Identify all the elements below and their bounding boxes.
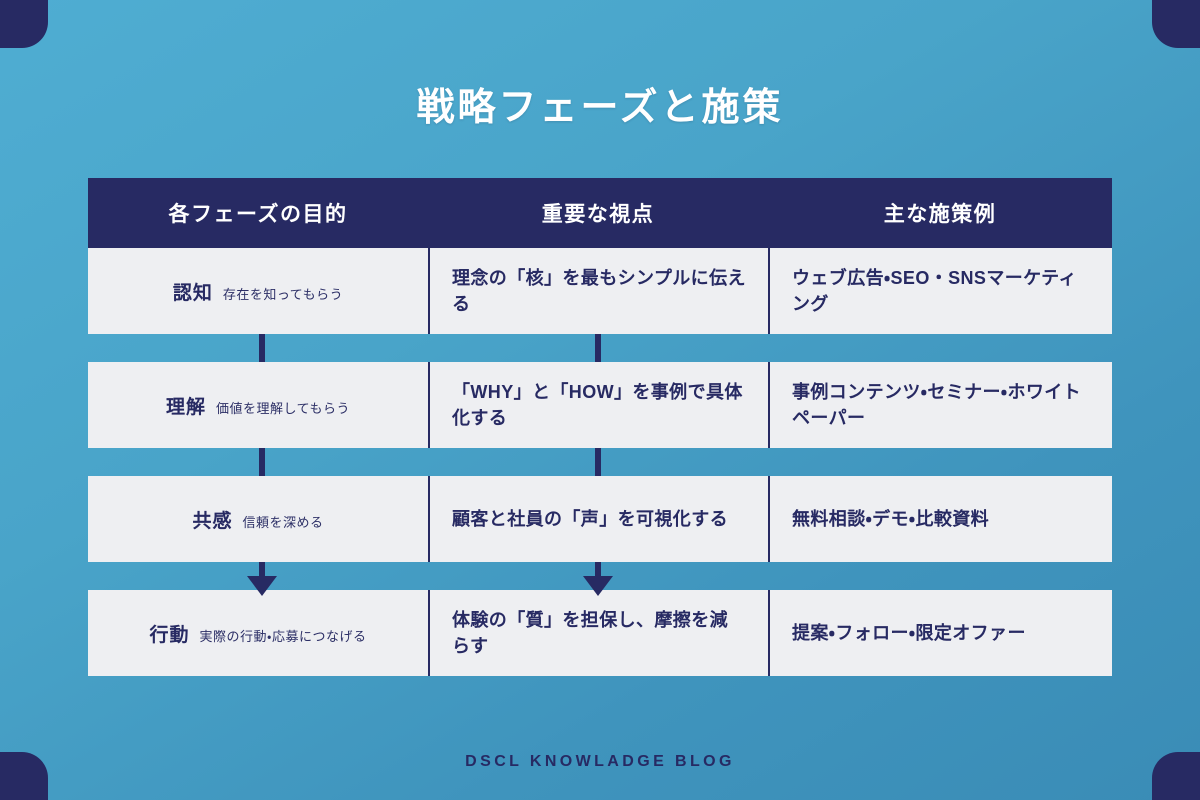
- tactics-text: 無料相談・デモ・比較資料: [792, 506, 989, 532]
- phase-label-group: 共感 信頼を深める: [192, 506, 323, 533]
- phase-subtitle: 存在を知ってもらう: [223, 284, 343, 303]
- tactics-cell: 事例コンテンツ・セミナー・ホワイトペーパー: [768, 362, 1112, 448]
- viewpoint-text: 理念の「核」を最もシンプルに伝える: [452, 265, 746, 317]
- phase-subtitle: 価値を理解してもらう: [216, 398, 350, 417]
- corner-bracket-top-right: [1152, 0, 1200, 48]
- tactics-cell: 無料相談・デモ・比較資料: [768, 476, 1112, 562]
- viewpoint-text: 顧客と社員の「声」を可視化する: [452, 506, 728, 532]
- corner-bracket-top-left: [0, 0, 48, 48]
- table-row: 共感 信頼を深める 顧客と社員の「声」を可視化する 無料相談・デモ・比較資料: [88, 476, 1112, 562]
- viewpoint-cell: 「WHY」と「HOW」を事例で具体化する: [428, 362, 768, 448]
- phase-cell: 行動 実際の行動・応募につなげる: [88, 590, 428, 676]
- phase-label-group: 理解 価値を理解してもらう: [166, 392, 350, 419]
- phase-name: 共感: [192, 506, 232, 533]
- phase-cell: 共感 信頼を深める: [88, 476, 428, 562]
- tactics-text: 提案・フォロー・限定オファー: [792, 620, 1026, 646]
- phase-label-group: 行動 実際の行動・応募につなげる: [150, 620, 367, 647]
- strategy-phase-table: 各フェーズの目的 重要な視点 主な施策例 認知 存在を知ってもらう 理念の「核」…: [88, 178, 1112, 676]
- phase-cell: 認知 存在を知ってもらう: [88, 248, 428, 334]
- page-title: 戦略フェーズと施策: [0, 86, 1200, 132]
- phase-name: 理解: [166, 392, 206, 419]
- table-row: 行動 実際の行動・応募につなげる 体験の「質」を担保し、摩擦を減らす 提案・フォ…: [88, 590, 1112, 676]
- table-row: 認知 存在を知ってもらう 理念の「核」を最もシンプルに伝える ウェブ広告・SEO…: [88, 248, 1112, 334]
- flow-arrowhead-icon-phase: [247, 576, 277, 596]
- tactics-text: 事例コンテンツ・セミナー・ホワイトペーパー: [792, 379, 1090, 431]
- column-header-purpose: 各フェーズの目的: [88, 198, 428, 228]
- table-header-row: 各フェーズの目的 重要な視点 主な施策例: [88, 178, 1112, 248]
- infographic-canvas: 戦略フェーズと施策 各フェーズの目的 重要な視点 主な施策例 認知 存在を知って…: [0, 0, 1200, 800]
- tactics-cell: 提案・フォロー・限定オファー: [768, 590, 1112, 676]
- column-header-tactics: 主な施策例: [768, 198, 1112, 228]
- viewpoint-cell: 理念の「核」を最もシンプルに伝える: [428, 248, 768, 334]
- phase-name: 認知: [173, 278, 213, 305]
- flow-arrowhead-icon-viewpoint: [583, 576, 613, 596]
- tactics-cell: ウェブ広告・SEO・SNSマーケティング: [768, 248, 1112, 334]
- table-body: 認知 存在を知ってもらう 理念の「核」を最もシンプルに伝える ウェブ広告・SEO…: [88, 248, 1112, 676]
- tactics-text: ウェブ広告・SEO・SNSマーケティング: [792, 265, 1090, 317]
- viewpoint-cell: 体験の「質」を担保し、摩擦を減らす: [428, 590, 768, 676]
- table-row: 理解 価値を理解してもらう 「WHY」と「HOW」を事例で具体化する 事例コンテ…: [88, 362, 1112, 448]
- viewpoint-cell: 顧客と社員の「声」を可視化する: [428, 476, 768, 562]
- phase-subtitle: 実際の行動・応募につなげる: [200, 626, 367, 645]
- phase-subtitle: 信頼を深める: [243, 512, 324, 531]
- flow-connector-line-phase-1: [259, 334, 265, 362]
- phase-name: 行動: [150, 620, 190, 647]
- footer-brand-label: DSCL KNOWLADGE BLOG: [0, 753, 1200, 771]
- phase-cell: 理解 価値を理解してもらう: [88, 362, 428, 448]
- viewpoint-text: 体験の「質」を担保し、摩擦を減らす: [452, 607, 746, 659]
- viewpoint-text: 「WHY」と「HOW」を事例で具体化する: [452, 379, 746, 431]
- flow-connector-line-viewpoint-1: [595, 334, 601, 362]
- flow-connector-line-viewpoint-2: [595, 448, 601, 476]
- phase-label-group: 認知 存在を知ってもらう: [173, 278, 343, 305]
- column-header-viewpoint: 重要な視点: [428, 198, 768, 228]
- flow-connector-line-phase-2: [259, 448, 265, 476]
